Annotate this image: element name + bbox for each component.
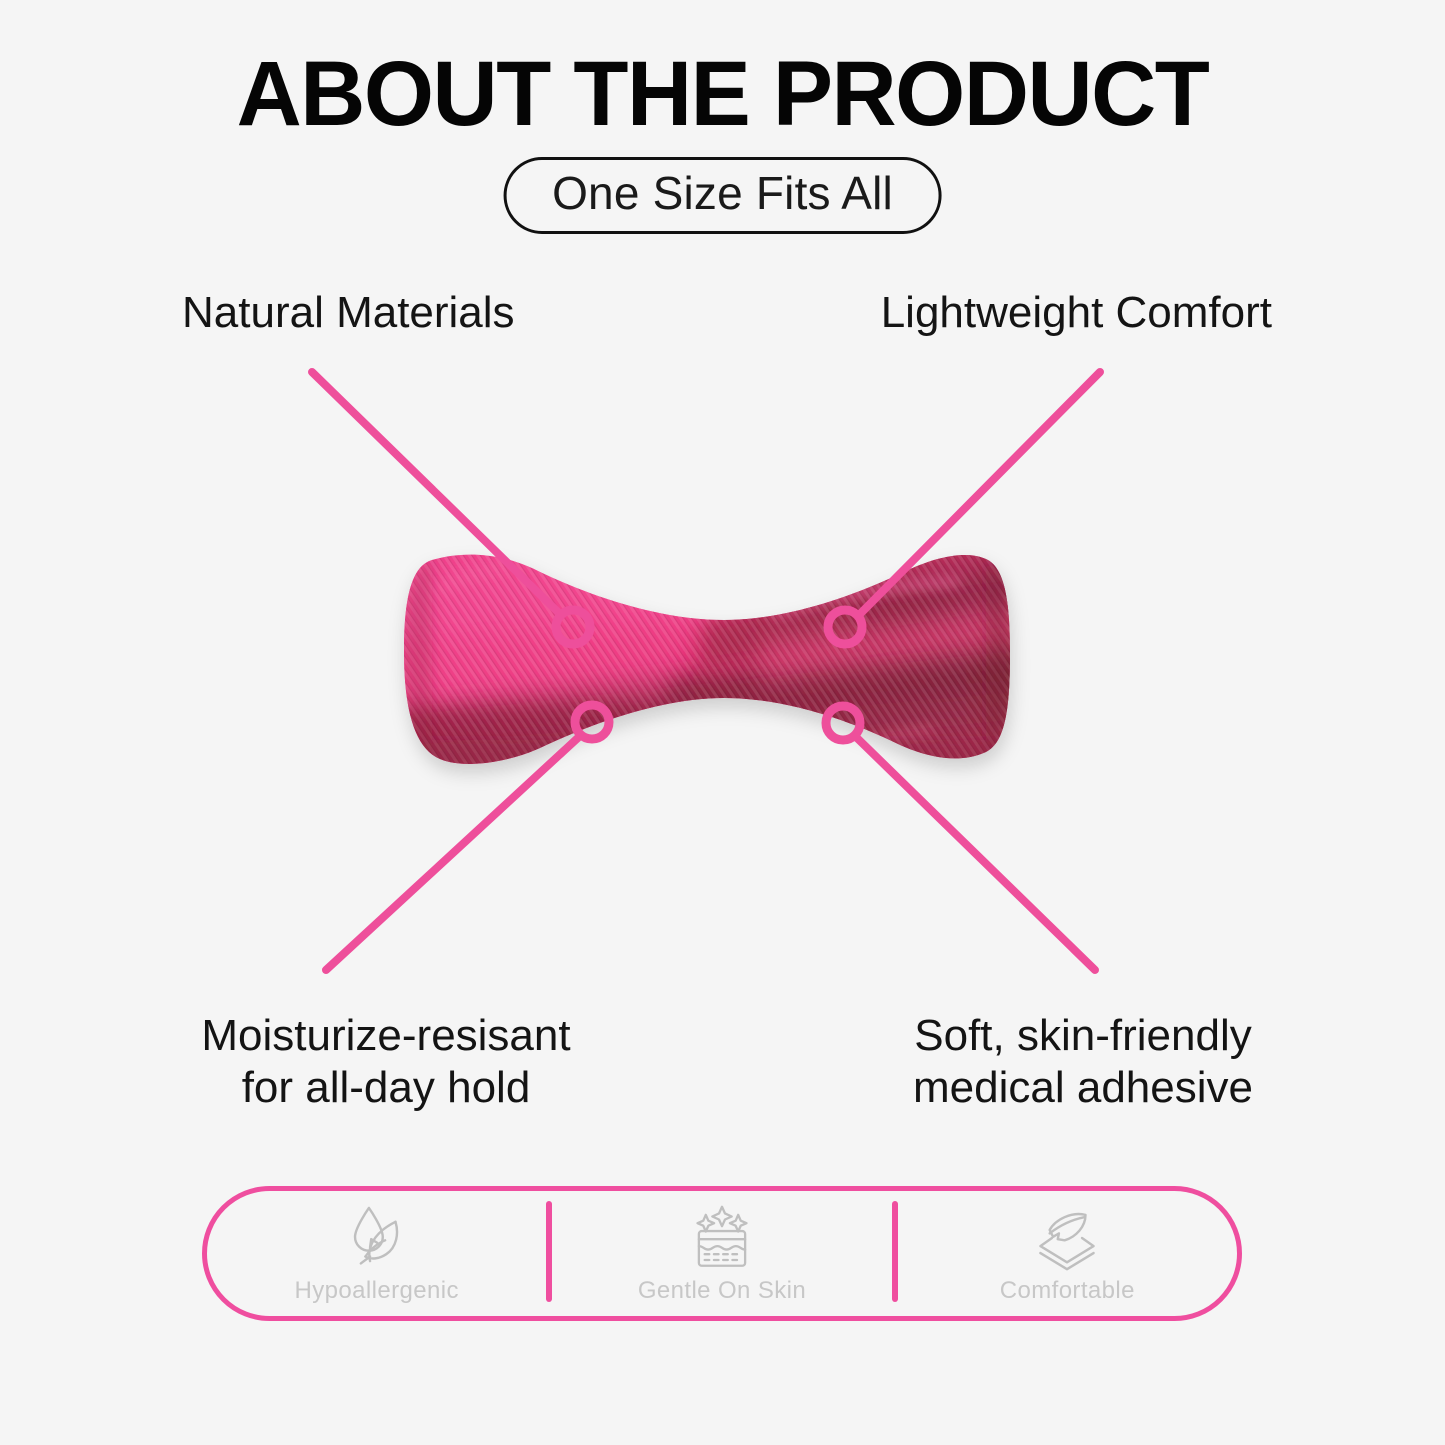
- feather-layers-icon: [1030, 1201, 1104, 1275]
- callout-label-natural-materials: Natural Materials: [182, 287, 515, 339]
- connector-lightweight-comfort: [858, 372, 1100, 616]
- callout-rings: [556, 610, 862, 740]
- feature-bar: Hypoallergenic Gentle On Skin: [202, 1186, 1242, 1321]
- feature-item-hypoallergenic: Hypoallergenic: [207, 1191, 546, 1316]
- feature-caption-gentle-on-skin: Gentle On Skin: [638, 1279, 806, 1303]
- feature-caption-hypoallergenic: Hypoallergenic: [294, 1279, 458, 1303]
- page-title: ABOUT THE PRODUCT: [14, 46, 1430, 143]
- callout-ring-soft-adhesive: [826, 706, 860, 740]
- callout-label-moisture-resistant: Moisturize-resisant for all-day hold: [182, 1010, 590, 1114]
- droplet-leaf-icon: [340, 1201, 414, 1275]
- feature-item-gentle-on-skin: Gentle On Skin: [552, 1191, 891, 1316]
- skin-layers-sparkle-icon: [685, 1201, 759, 1275]
- one-size-badge: One Size Fits All: [503, 157, 942, 234]
- callout-label-lightweight-comfort: Lightweight Comfort: [881, 287, 1272, 339]
- product-infographic: ABOUT THE PRODUCT One Size Fits All Natu…: [0, 0, 1445, 1445]
- product-image: [380, 528, 1040, 800]
- callout-connector-lines: [312, 372, 1100, 970]
- callout-label-soft-adhesive: Soft, skin-friendly medical adhesive: [894, 1010, 1272, 1114]
- feature-caption-comfortable: Comfortable: [1000, 1279, 1135, 1303]
- callout-ring-natural-materials: [556, 610, 590, 644]
- callout-ring-moisture-resistant: [575, 705, 609, 739]
- one-size-badge-label: One Size Fits All: [552, 170, 893, 216]
- callout-ring-lightweight-comfort: [828, 610, 862, 644]
- connector-moisture-resistant: [326, 735, 581, 970]
- connector-soft-adhesive: [855, 736, 1095, 970]
- feature-item-comfortable: Comfortable: [898, 1191, 1237, 1316]
- connector-natural-materials: [312, 372, 561, 615]
